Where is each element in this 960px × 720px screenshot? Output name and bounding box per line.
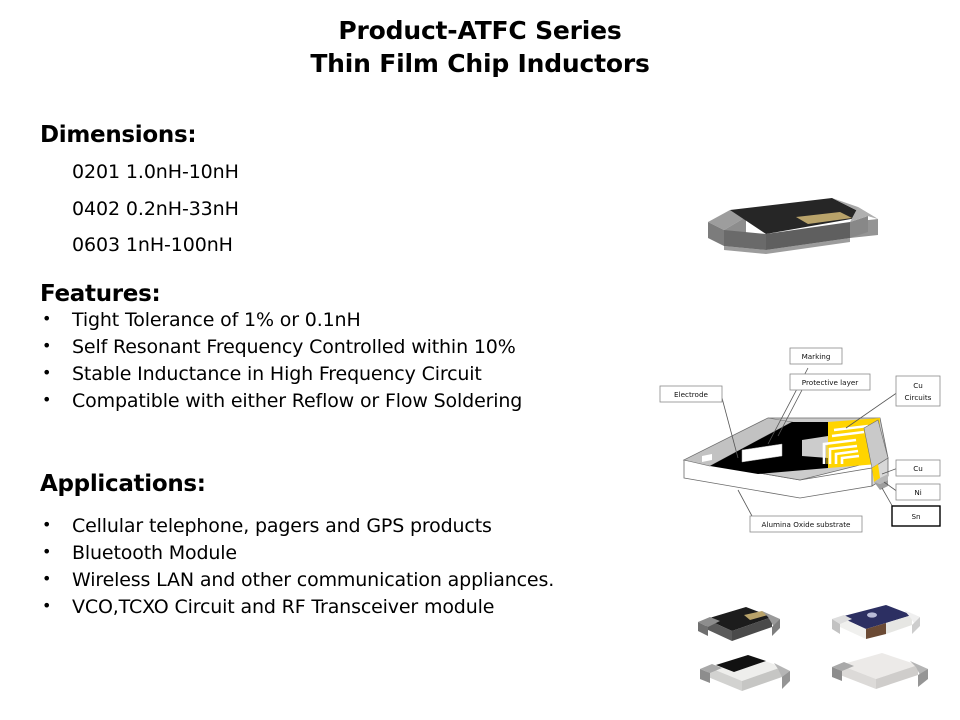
chip-navy bbox=[832, 605, 920, 639]
bullet-icon: • bbox=[42, 596, 56, 615]
callout-sn-label: Sn bbox=[911, 512, 920, 521]
chip-variants-svg bbox=[690, 595, 960, 715]
dimensions-row: 0402 0.2nH-33nH bbox=[72, 198, 239, 220]
chip-white-black-stripe bbox=[700, 655, 790, 691]
features-heading: Features: bbox=[40, 281, 160, 307]
callout-cu-circuits-line2: Circuits bbox=[905, 393, 932, 402]
applications-heading: Applications: bbox=[40, 471, 206, 497]
application-text: Bluetooth Module bbox=[72, 542, 237, 564]
bullet-icon: • bbox=[42, 336, 56, 355]
callout-electrode-label: Electrode bbox=[674, 390, 708, 399]
callout-electrode: Electrode bbox=[660, 386, 722, 402]
bullet-icon: • bbox=[42, 363, 56, 382]
chip-inductor-photo bbox=[700, 190, 890, 270]
dimensions-heading: Dimensions: bbox=[40, 122, 196, 148]
application-text: Cellular telephone, pagers and GPS produ… bbox=[72, 515, 492, 537]
chip-inductor-svg bbox=[700, 190, 890, 270]
cutaway-svg: Electrode Marking Protective layer Cu Ci… bbox=[650, 340, 950, 540]
callout-sn: Sn bbox=[892, 506, 940, 526]
feature-text: Self Resonant Frequency Controlled withi… bbox=[72, 336, 516, 358]
chip-white-plain bbox=[832, 653, 928, 689]
callout-cu: Cu bbox=[896, 460, 940, 476]
callout-alumina-label: Alumina Oxide substrate bbox=[762, 520, 851, 529]
bullet-icon: • bbox=[42, 515, 56, 534]
bullet-icon: • bbox=[42, 309, 56, 328]
callout-marking: Marking bbox=[790, 348, 842, 364]
chip-black-gold bbox=[698, 607, 780, 641]
feature-text: Compatible with either Reflow or Flow So… bbox=[72, 390, 522, 412]
callout-cu-circuits-line1: Cu bbox=[913, 381, 923, 390]
callout-protective-layer: Protective layer bbox=[790, 374, 870, 390]
bullet-icon: • bbox=[42, 542, 56, 561]
callout-marking-label: Marking bbox=[802, 352, 831, 361]
application-text: Wireless LAN and other communication app… bbox=[72, 569, 554, 591]
dimensions-row: 0603 1nH-100nH bbox=[72, 234, 233, 256]
bullet-icon: • bbox=[42, 390, 56, 409]
callout-protective-layer-label: Protective layer bbox=[802, 378, 858, 387]
callout-ni: Ni bbox=[896, 484, 940, 500]
callout-alumina-oxide-substrate: Alumina Oxide substrate bbox=[750, 516, 862, 532]
callout-cu-label: Cu bbox=[913, 464, 923, 473]
application-text: VCO,TCXO Circuit and RF Transceiver modu… bbox=[72, 596, 494, 618]
chip-variants-photo bbox=[690, 595, 960, 715]
content-column: Dimensions: 0201 1.0nH-10nH 0402 0.2nH-3… bbox=[0, 0, 650, 720]
callout-ni-label: Ni bbox=[914, 488, 921, 497]
bullet-icon: • bbox=[42, 569, 56, 588]
callout-cu-circuits: Cu Circuits bbox=[896, 376, 940, 406]
feature-text: Tight Tolerance of 1% or 0.1nH bbox=[72, 309, 361, 331]
feature-text: Stable Inductance in High Frequency Circ… bbox=[72, 363, 482, 385]
dimensions-row: 0201 1.0nH-10nH bbox=[72, 161, 239, 183]
chip-construction-cutaway: Electrode Marking Protective layer Cu Ci… bbox=[650, 340, 950, 540]
